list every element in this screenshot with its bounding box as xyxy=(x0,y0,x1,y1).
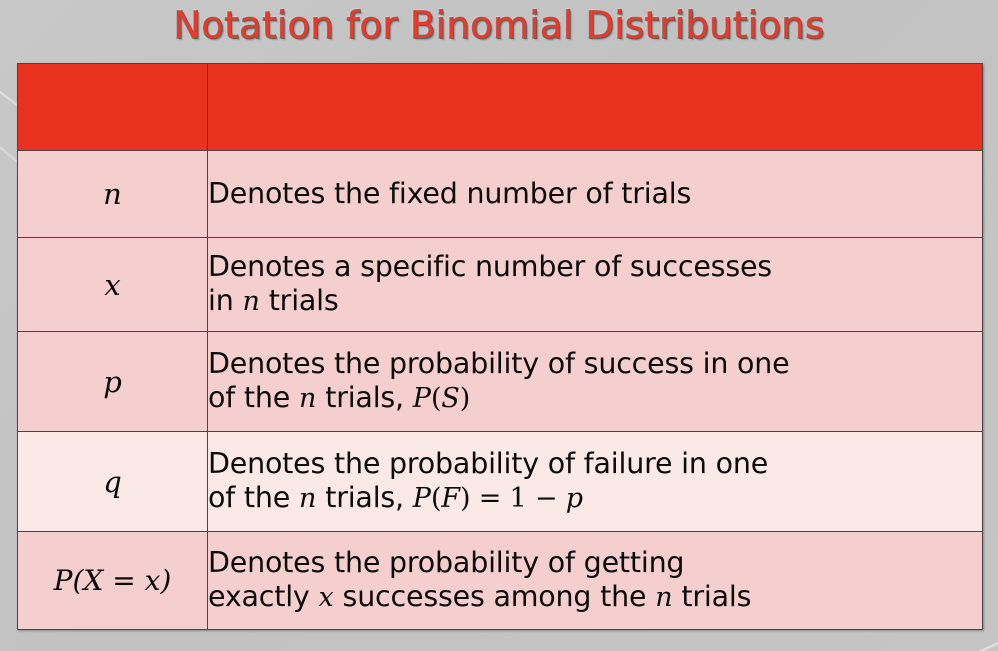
text-run: Denotes a specific number of successes xyxy=(208,250,772,283)
symbol-cell-q: q xyxy=(18,432,208,532)
math-variable: F xyxy=(441,483,460,514)
description-line: of the n trials, P(F) = 1 − p xyxy=(208,481,982,516)
description-line: in n trials xyxy=(208,284,982,319)
decorative-diagonal-bottom-right xyxy=(817,629,998,651)
description-cell-p: Denotes the probability of success in on… xyxy=(208,332,983,432)
title-bar: Notation for Binomial Distributions xyxy=(0,0,998,53)
decorative-diagonal-bottom-left xyxy=(0,641,118,651)
text-run: trials, xyxy=(316,381,412,414)
description-cell-probability: Denotes the probability of gettingexactl… xyxy=(208,532,983,630)
description-line: Denotes the probability of failure in on… xyxy=(208,447,982,481)
math-variable: P xyxy=(413,383,431,414)
text-run: Denotes the probability of getting xyxy=(208,546,684,579)
description-cell-x: Denotes a specific number of successesin… xyxy=(208,238,983,332)
header-cell-symbol xyxy=(18,64,208,151)
description-line: Denotes the fixed number of trials xyxy=(208,177,982,211)
description-cell-n: Denotes the fixed number of trials xyxy=(208,151,983,238)
math-variable: x xyxy=(318,582,333,613)
symbol-cell-x: x xyxy=(18,238,208,332)
text-run: trials xyxy=(260,284,339,317)
math-variable: p xyxy=(566,483,583,514)
description-line: of the n trials, P(S) xyxy=(208,381,982,416)
text-run: of the xyxy=(208,481,299,514)
description-line: Denotes a specific number of successes xyxy=(208,250,982,284)
symbol-cell-n: n xyxy=(18,151,208,238)
notation-table: n Denotes the fixed number of trials x D… xyxy=(17,63,983,630)
text-run: Denotes the probability of failure in on… xyxy=(208,447,768,480)
math-operator: ( xyxy=(431,383,441,414)
text-run: Denotes the probability of success in on… xyxy=(208,347,790,380)
math-variable: n xyxy=(242,286,259,317)
notation-table-body: n Denotes the fixed number of trials x D… xyxy=(18,64,983,630)
math-operator: ( xyxy=(431,483,441,514)
symbol-cell-probability: P(X = x) xyxy=(18,532,208,630)
text-run: trials, xyxy=(316,481,412,514)
table-row: p Denotes the probability of success in … xyxy=(18,332,983,432)
slide-canvas: Notation for Binomial Distributions n De… xyxy=(0,0,998,651)
math-variable: P xyxy=(413,483,431,514)
math-variable: S xyxy=(441,383,460,414)
description-line: Denotes the probability of getting xyxy=(208,546,982,580)
table-row: q Denotes the probability of failure in … xyxy=(18,432,983,532)
math-variable: n xyxy=(655,582,672,613)
math-operator: ) xyxy=(460,383,470,414)
table-header-row xyxy=(18,64,983,151)
math-operator: ) = 1 − xyxy=(460,483,566,514)
math-variable: n xyxy=(299,483,316,514)
text-run: exactly xyxy=(208,580,318,613)
header-cell-description xyxy=(208,64,983,151)
text-run: trials xyxy=(673,580,752,613)
table-row: x Denotes a specific number of successes… xyxy=(18,238,983,332)
math-variable: n xyxy=(299,383,316,414)
description-cell-q: Denotes the probability of failure in on… xyxy=(208,432,983,532)
description-line: exactly x successes among the n trials xyxy=(208,580,982,615)
symbol-cell-p: p xyxy=(18,332,208,432)
description-line: Denotes the probability of success in on… xyxy=(208,347,982,381)
text-run: of the xyxy=(208,381,299,414)
table-row: P(X = x) Denotes the probability of gett… xyxy=(18,532,983,630)
text-run: successes among the xyxy=(334,580,656,613)
text-run: in xyxy=(208,284,242,317)
text-run: Denotes the fixed number of trials xyxy=(208,177,691,210)
page-title: Notation for Binomial Distributions xyxy=(173,4,824,47)
table-row: n Denotes the fixed number of trials xyxy=(18,151,983,238)
